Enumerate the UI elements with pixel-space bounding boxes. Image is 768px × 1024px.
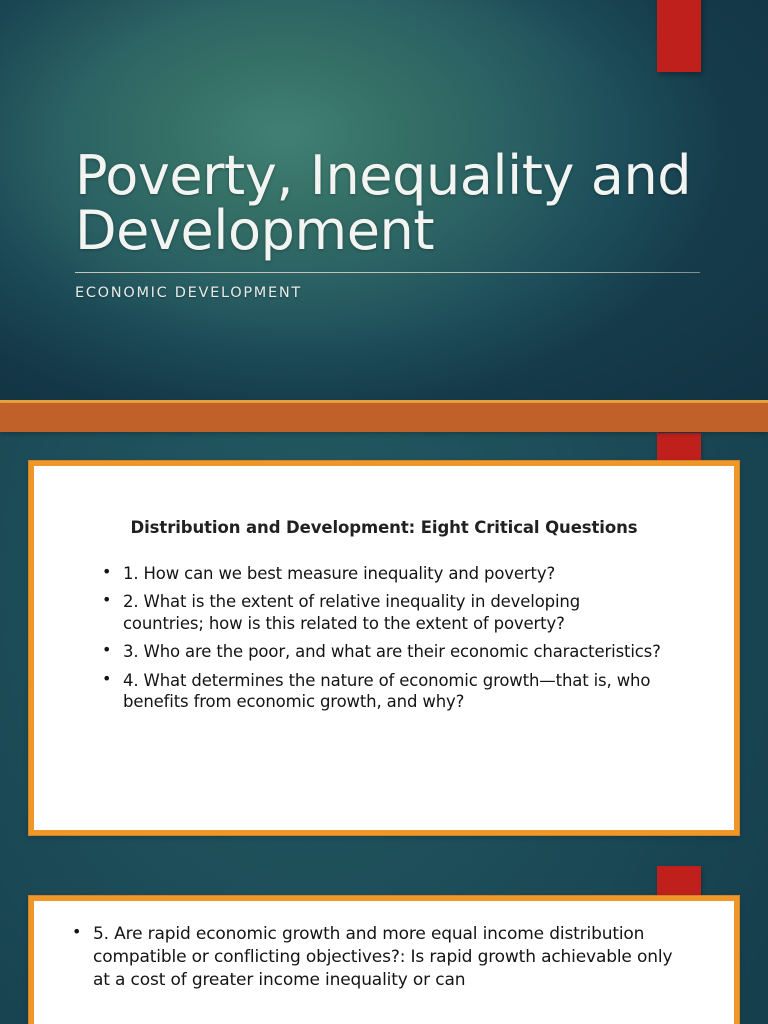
slide2-inner: Distribution and Development: Eight Crit… bbox=[34, 466, 734, 830]
list-item: 3. Who are the poor, and what are their … bbox=[101, 641, 661, 662]
red-accent-block-slide3 bbox=[657, 866, 701, 896]
list-item: 5. Are rapid economic growth and more eq… bbox=[71, 923, 681, 992]
slide2-bullet-list: 1. How can we best measure inequality an… bbox=[101, 563, 661, 713]
list-item: 2. What is the extent of relative inequa… bbox=[101, 591, 661, 634]
slide-content-question-5: 5. Are rapid economic growth and more eq… bbox=[29, 896, 739, 1024]
slide2-heading: Distribution and Development: Eight Crit… bbox=[34, 466, 734, 537]
band-main bbox=[0, 403, 768, 432]
title-block: Poverty, Inequality and Development ECON… bbox=[75, 148, 703, 301]
red-accent-block-slide2 bbox=[657, 433, 701, 463]
orange-divider-band bbox=[0, 400, 768, 432]
page-title: Poverty, Inequality and Development bbox=[75, 148, 703, 258]
title-divider-rule bbox=[75, 272, 700, 273]
red-accent-block-top bbox=[657, 0, 701, 72]
page-subtitle: ECONOMIC DEVELOPMENT bbox=[75, 285, 703, 301]
lower-slides-region: Distribution and Development: Eight Crit… bbox=[0, 432, 768, 1024]
slide-deck: Poverty, Inequality and Development ECON… bbox=[0, 0, 768, 1024]
slide3-inner: 5. Are rapid economic growth and more eq… bbox=[34, 923, 734, 1024]
slide-content-questions-1-4: Distribution and Development: Eight Crit… bbox=[29, 461, 739, 835]
slide3-bullet-list: 5. Are rapid economic growth and more eq… bbox=[71, 923, 681, 992]
list-item: 1. How can we best measure inequality an… bbox=[101, 563, 661, 584]
slide-title: Poverty, Inequality and Development ECON… bbox=[0, 0, 768, 404]
list-item: 4. What determines the nature of economi… bbox=[101, 670, 661, 713]
